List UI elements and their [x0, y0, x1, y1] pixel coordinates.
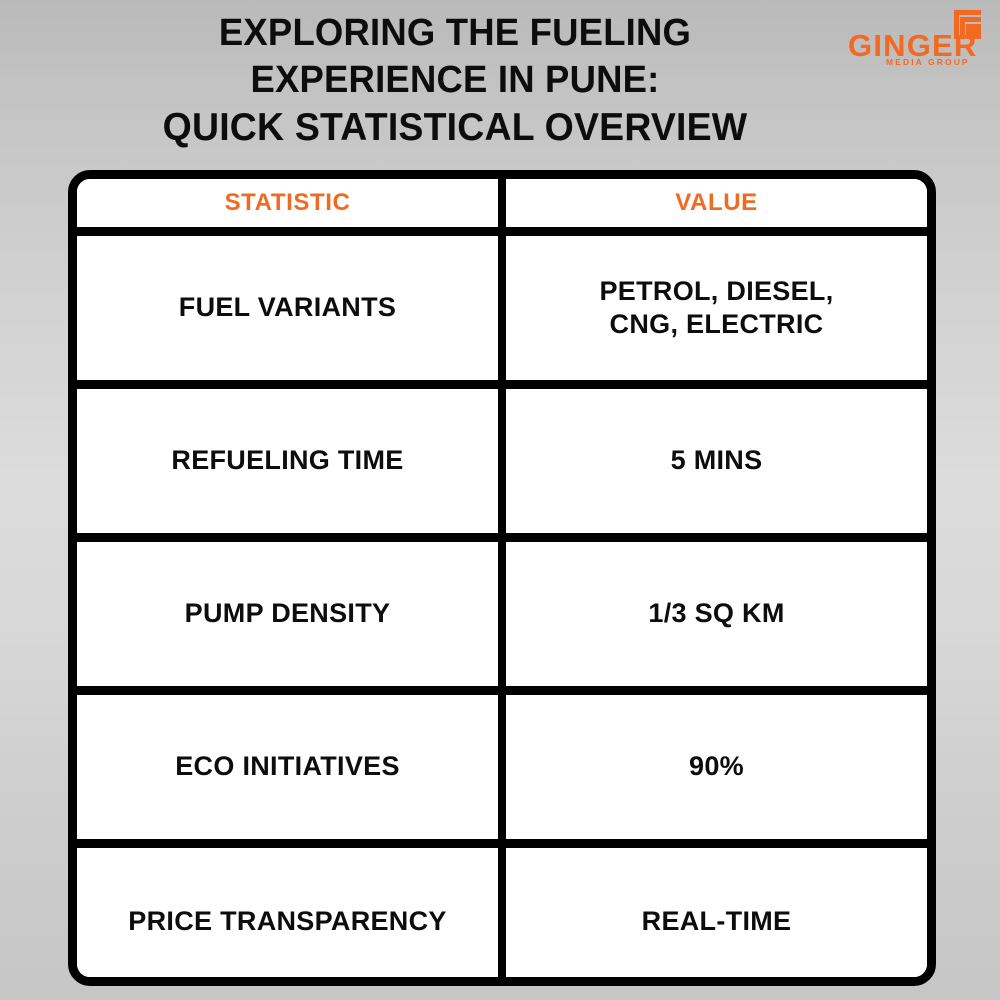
- value-line: 1/3 SQ KM: [516, 597, 917, 630]
- table-header: STATISTIC VALUE: [77, 179, 927, 231]
- cell-value: PETROL, DIESEL, CNG, ELECTRIC: [502, 231, 927, 384]
- page-title: EXPLORING THE FUELING EXPERIENCE IN PUNE…: [60, 10, 850, 151]
- table-body: FUEL VARIANTS PETROL, DIESEL, CNG, ELECT…: [77, 231, 927, 986]
- title-line-3: QUICK STATISTICAL OVERVIEW: [76, 104, 834, 151]
- statistics-table: STATISTIC VALUE FUEL VARIANTS PETROL, DI…: [77, 179, 927, 986]
- cell-statistic: ECO INITIATIVES: [77, 690, 502, 843]
- ginger-media-group-logo[interactable]: GINGER MEDIA GROUP: [848, 8, 988, 70]
- table-row: PRICE TRANSPARENCY REAL-TIME: [77, 843, 927, 986]
- column-header-value: VALUE: [502, 179, 927, 231]
- title-line-1: EXPLORING THE FUELING: [76, 10, 834, 57]
- cell-value: 1/3 SQ KM: [502, 537, 927, 690]
- cell-statistic: PRICE TRANSPARENCY: [77, 843, 502, 986]
- statistic-label: FUEL VARIANTS: [179, 292, 396, 322]
- cell-statistic: FUEL VARIANTS: [77, 231, 502, 384]
- table-row: ECO INITIATIVES 90%: [77, 690, 927, 843]
- table-header-row: STATISTIC VALUE: [77, 179, 927, 231]
- value-text: REAL-TIME: [516, 905, 917, 938]
- table-row: FUEL VARIANTS PETROL, DIESEL, CNG, ELECT…: [77, 231, 927, 384]
- poster-header: EXPLORING THE FUELING EXPERIENCE IN PUNE…: [0, 0, 1000, 168]
- statistic-label: PRICE TRANSPARENCY: [128, 906, 446, 936]
- statistic-label: PUMP DENSITY: [185, 598, 391, 628]
- title-line-2: EXPERIENCE IN PUNE:: [76, 57, 834, 104]
- cell-value: 5 MINS: [502, 384, 927, 537]
- cell-value: 90%: [502, 690, 927, 843]
- value-text: PETROL, DIESEL, CNG, ELECTRIC: [516, 275, 917, 341]
- column-header-statistic: STATISTIC: [77, 179, 502, 231]
- value-line: REAL-TIME: [516, 905, 917, 938]
- cell-statistic: PUMP DENSITY: [77, 537, 502, 690]
- statistic-label: ECO INITIATIVES: [175, 751, 400, 781]
- value-line: PETROL, DIESEL,: [516, 275, 917, 308]
- nested-squares-icon: [950, 10, 982, 40]
- table-row: PUMP DENSITY 1/3 SQ KM: [77, 537, 927, 690]
- value-text: 5 MINS: [516, 444, 917, 477]
- value-line: CNG, ELECTRIC: [516, 308, 917, 341]
- statistic-label: REFUELING TIME: [171, 445, 403, 475]
- cell-value: REAL-TIME: [502, 843, 927, 986]
- value-text: 1/3 SQ KM: [516, 597, 917, 630]
- value-line: 90%: [516, 750, 917, 783]
- cell-statistic: REFUELING TIME: [77, 384, 502, 537]
- infographic-poster: EXPLORING THE FUELING EXPERIENCE IN PUNE…: [0, 0, 1000, 1000]
- value-text: 90%: [516, 750, 917, 783]
- value-line: 5 MINS: [516, 444, 917, 477]
- table-row: REFUELING TIME 5 MINS: [77, 384, 927, 537]
- logo-tagline: MEDIA GROUP: [886, 58, 970, 67]
- statistics-table-container: STATISTIC VALUE FUEL VARIANTS PETROL, DI…: [68, 170, 936, 986]
